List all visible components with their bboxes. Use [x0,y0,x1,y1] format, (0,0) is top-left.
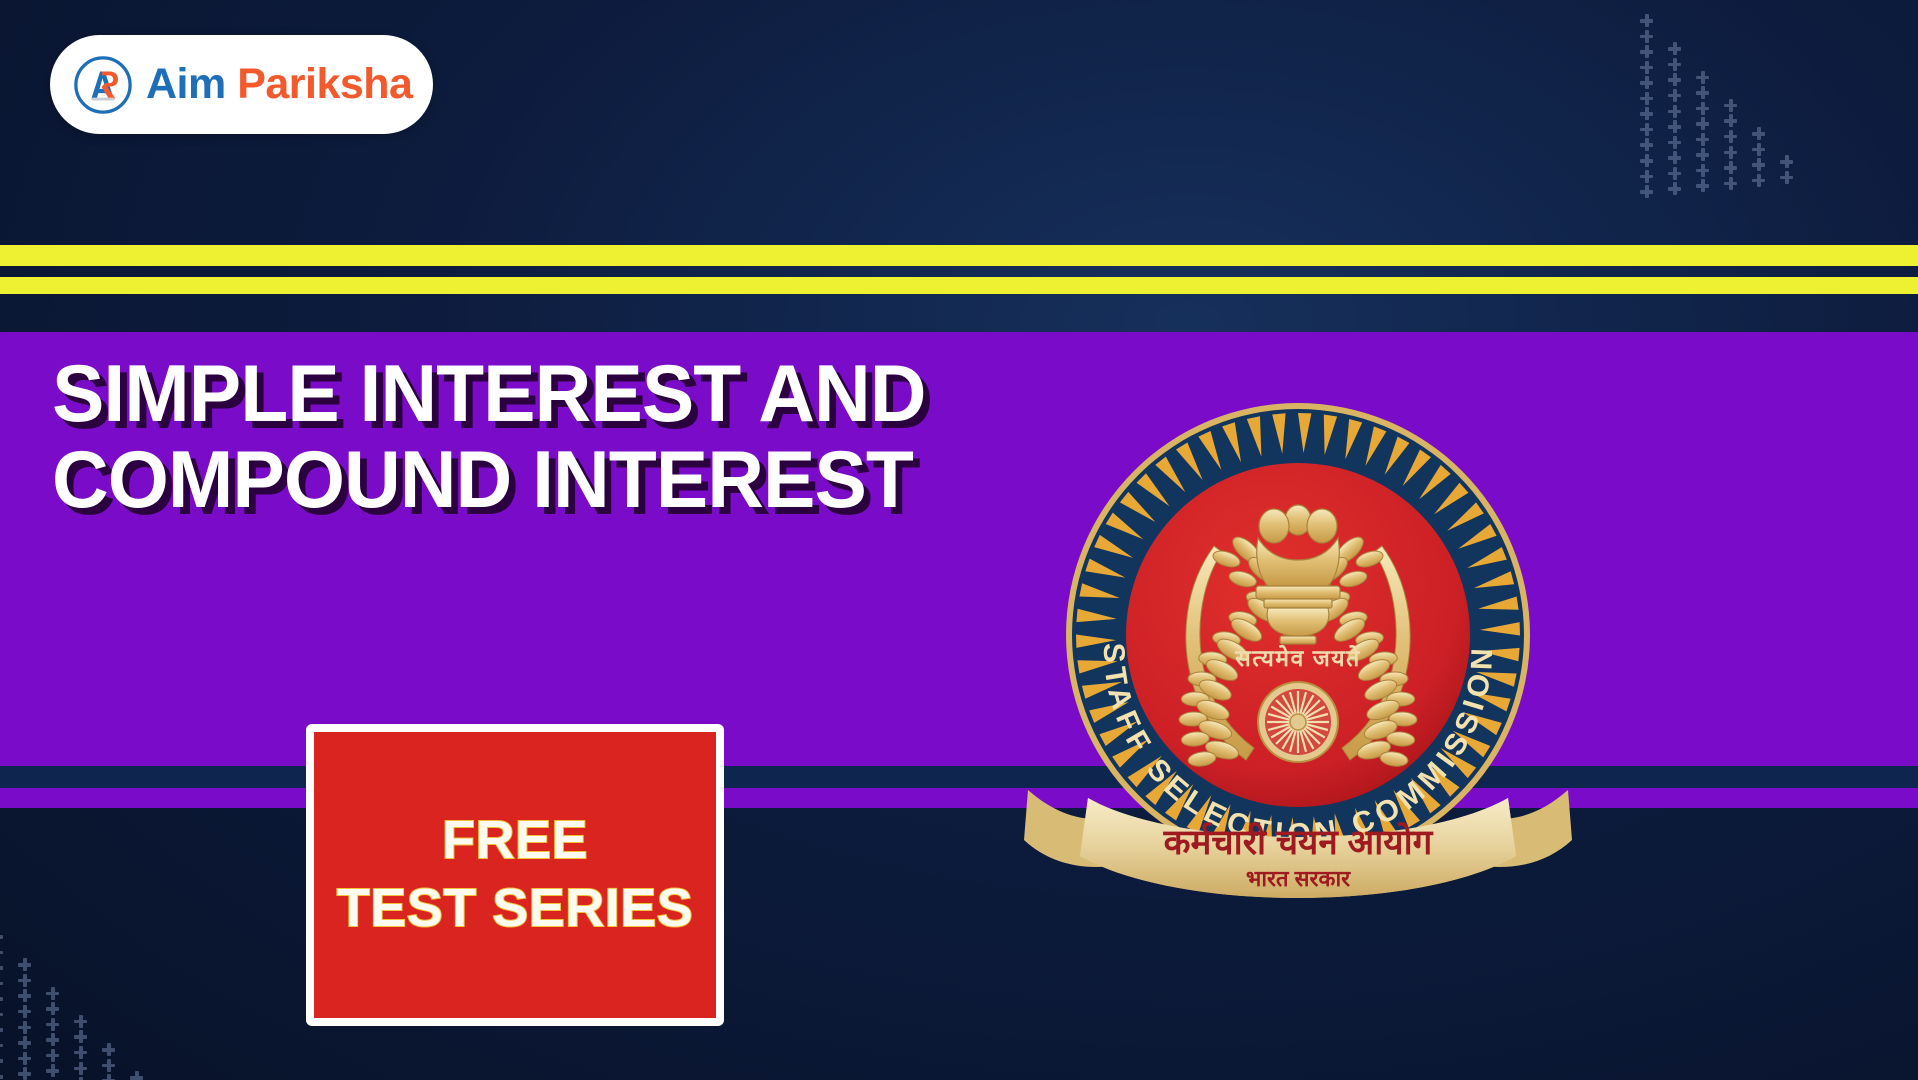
decor-cross-icon [1668,73,1681,86]
decor-cross-icon [1640,92,1653,105]
decor-cross-icon [1668,89,1681,102]
decor-cross-icon [130,1071,143,1080]
decor-cross-icon [1668,136,1681,149]
emblem-motto: सत्यमेव जयते [1234,644,1361,671]
decor-cross-icon [1640,45,1653,58]
purple-accent-stripe [0,788,1918,808]
cta-inner: FREE TEST SERIES [314,732,716,1018]
decor-cross-icon [0,930,3,943]
decor-cross-icon [18,958,31,971]
decor-cross-icon [0,946,3,959]
brand-name: Aim Pariksha [146,63,412,106]
decor-cross-icon [1668,151,1681,164]
ssc-emblem-icon: STAFF SELECTION COMMISSION [1018,370,1578,930]
page-title: SIMPLE INTEREST AND COMPOUND INTEREST [52,352,1061,524]
decor-cross-icon [102,1043,115,1056]
decor-cross-icon [0,1054,3,1067]
decor-cross-icon [46,1018,59,1031]
yellow-stripe-lower [0,277,1918,294]
decor-cross-icon [1668,42,1681,55]
decor-cross-icon [102,1059,115,1072]
decor-cross-icon [0,1008,3,1021]
decor-cross-icon [1696,179,1709,192]
page-title-line-1: SIMPLE INTEREST AND [52,352,1061,438]
brand-logo[interactable]: Aim Pariksha [50,35,433,134]
decor-cross-icon [18,1067,31,1080]
decor-cross-icon [1724,161,1737,174]
decor-cross-icon [1724,130,1737,143]
decor-cross-icon [0,977,3,990]
decor-cross-icon [46,987,59,1000]
decor-cross-icon [1696,164,1709,177]
decor-cross-icon [74,1046,87,1059]
cta-line-2: TEST SERIES [337,877,694,941]
decor-cross-icon [1668,182,1681,195]
decor-cross-icon [18,989,31,1002]
decor-cross-icon [18,1021,31,1034]
decor-cross-icon [1668,167,1681,180]
emblem-ribbon-line-1: कर्मचारी चयन आयोग [1163,822,1434,862]
decor-cross-icon [1696,148,1709,161]
decor-cross-icon [46,1002,59,1015]
decor-cross-icon [1640,61,1653,74]
decor-cross-icon [1640,170,1653,183]
decor-cross-pattern-bottom-left [0,930,210,1080]
decor-cross-icon [1668,105,1681,118]
decor-cross-icon [1640,30,1653,43]
decor-cross-icon [1752,127,1765,140]
emblem-ribbon-line-2: भारत सरकार [1246,866,1351,891]
decor-cross-icon [1640,154,1653,167]
decor-cross-icon [1640,138,1653,151]
decor-cross-icon [18,1052,31,1065]
promo-banner: Aim Pariksha SIMPLE INTEREST AND COMPOUN… [0,0,1918,1080]
decor-cross-icon [46,1064,59,1077]
decor-cross-icon [1696,133,1709,146]
decor-cross-icon [0,1070,3,1080]
decor-cross-icon [1668,120,1681,133]
decor-cross-icon [0,1023,3,1036]
decor-cross-icon [1696,86,1709,99]
decor-cross-icon [1640,14,1653,27]
decor-cross-icon [1724,99,1737,112]
decor-cross-icon [102,1074,115,1080]
free-test-series-cta[interactable]: FREE TEST SERIES [306,724,724,1026]
decor-cross-icon [1724,146,1737,159]
decor-cross-icon [1780,155,1793,168]
decor-cross-icon [0,992,3,1005]
decor-cross-icon [1640,76,1653,89]
yellow-stripe-upper [0,245,1918,266]
brand-name-primary: Aim [146,60,226,108]
decor-cross-icon [46,1049,59,1062]
decor-cross-icon [1668,58,1681,71]
cta-line-1: FREE [442,809,588,873]
decor-cross-icon [1696,102,1709,115]
decor-cross-icon [1696,117,1709,130]
decor-cross-icon [18,974,31,987]
decor-cross-icon [1752,158,1765,171]
decor-cross-pattern-top-right [1640,14,1840,214]
navy-divider-stripe [0,766,1918,788]
decor-cross-icon [0,961,3,974]
decor-cross-icon [18,1005,31,1018]
decor-cross-icon [1780,171,1793,184]
decor-cross-icon [1640,123,1653,136]
decor-cross-icon [1724,114,1737,127]
decor-cross-icon [1640,107,1653,120]
decor-cross-icon [18,1036,31,1049]
decor-cross-icon [1752,174,1765,187]
decor-cross-icon [74,1030,87,1043]
decor-cross-icon [0,1039,3,1052]
decor-cross-icon [46,1033,59,1046]
brand-name-secondary: Pariksha [237,60,412,108]
decor-cross-icon [1724,177,1737,190]
decor-cross-icon [74,1062,87,1075]
decor-cross-icon [1640,185,1653,198]
aim-pariksha-monogram-icon [72,54,134,116]
decor-cross-icon [74,1015,87,1028]
page-title-line-2: COMPOUND INTEREST [52,438,1061,524]
decor-cross-icon [1696,71,1709,84]
decor-cross-icon [1752,143,1765,156]
